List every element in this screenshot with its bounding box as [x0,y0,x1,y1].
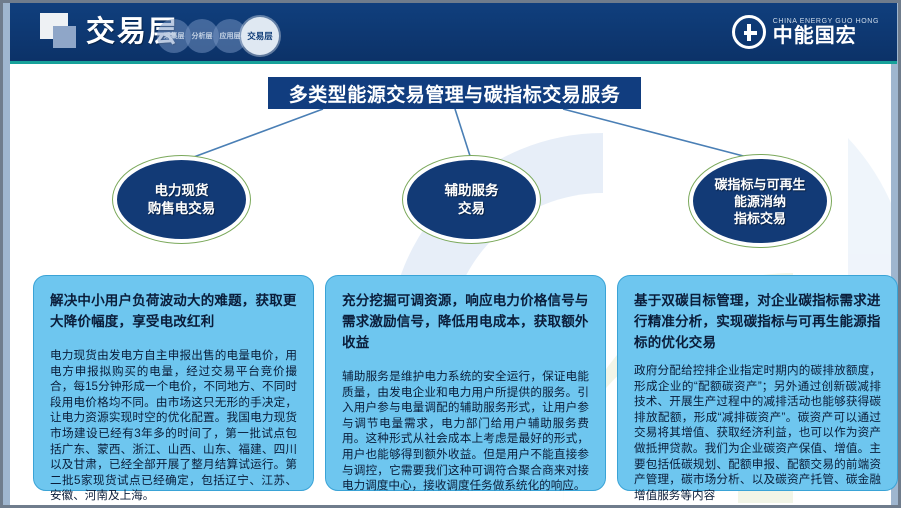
node-label: 辅助服务 交易 [445,182,499,218]
node-label: 碳指标与可再生 能源消纳 指标交易 [714,176,805,227]
panel-heading: 基于双碳目标管理，对企业碳指标需求进行精准分析，实现碳指标与可再生能源指标的优化… [634,290,881,353]
slide-title-banner: 多类型能源交易管理与碳指标交易服务 [268,77,641,109]
brand-english-name: CHINA ENERGY GUO HONG [773,18,879,25]
panel-body: 电力现货由发电方自主申报出售的电量电价，用电方申报拟购买的电量，经过交易平台竞价… [50,348,297,504]
panel-heading: 解决中小用户负荷波动大的难题，获取更大降价幅度，享受电改红利 [50,290,297,332]
node-ancillary-service-trading[interactable]: 辅助服务 交易 [403,156,540,243]
node-power-spot-trading[interactable]: 电力现货 购售电交易 [113,156,250,243]
panel-ancillary-service-trading: 充分挖掘可调资源，响应电力价格信号与需求激励信号，降低用电成本，获取额外收益 辅… [325,275,606,491]
panel-carbon-index-trading: 基于双碳目标管理，对企业碳指标需求进行精准分析，实现碳指标与可再生能源指标的优化… [617,275,898,491]
brand-logo: CHINA ENERGY GUO HONG 中能国宏 [732,12,879,52]
layer-chip-label: 应用层 [220,31,241,41]
header-underline [10,61,897,64]
panel-body: 辅助服务是维护电力系统的安全运行，保证电能质量，由发电企业和电力用户所提供的服务… [342,369,589,494]
layer-chip-label: 采集层 [164,31,185,41]
two-squares-icon [40,13,88,51]
panel-power-spot-trading: 解决中小用户负荷波动大的难题，获取更大降价幅度，享受电改红利 电力现货由发电方自… [33,275,314,491]
layer-selector[interactable]: 采集层 分析层 应用层 交易层 [157,18,273,54]
brand-chinese-name: 中能国宏 [773,26,879,46]
panel-heading: 充分挖掘可调资源，响应电力价格信号与需求激励信号，降低用电成本，获取额外收益 [342,290,589,353]
panel-body: 政府分配给控排企业指定时期内的碳排放额度，形成企业的“配额碳资产”；另外通过创新… [634,363,881,503]
layer-chip-trading-active[interactable]: 交易层 [241,17,279,55]
page-header: 交易层 采集层 分析层 应用层 交易层 CHINA ENERGY GUO HON… [10,3,897,61]
node-carbon-renewable-index-trading[interactable]: 碳指标与可再生 能源消纳 指标交易 [689,155,831,247]
company-circle-g-icon [732,15,766,49]
layer-chip-label: 分析层 [192,31,213,41]
slide-canvas: 交易层 采集层 分析层 应用层 交易层 CHINA ENERGY GUO HON… [0,0,901,508]
node-label: 电力现货 购售电交易 [148,182,216,218]
layer-chip-label: 交易层 [247,30,273,42]
